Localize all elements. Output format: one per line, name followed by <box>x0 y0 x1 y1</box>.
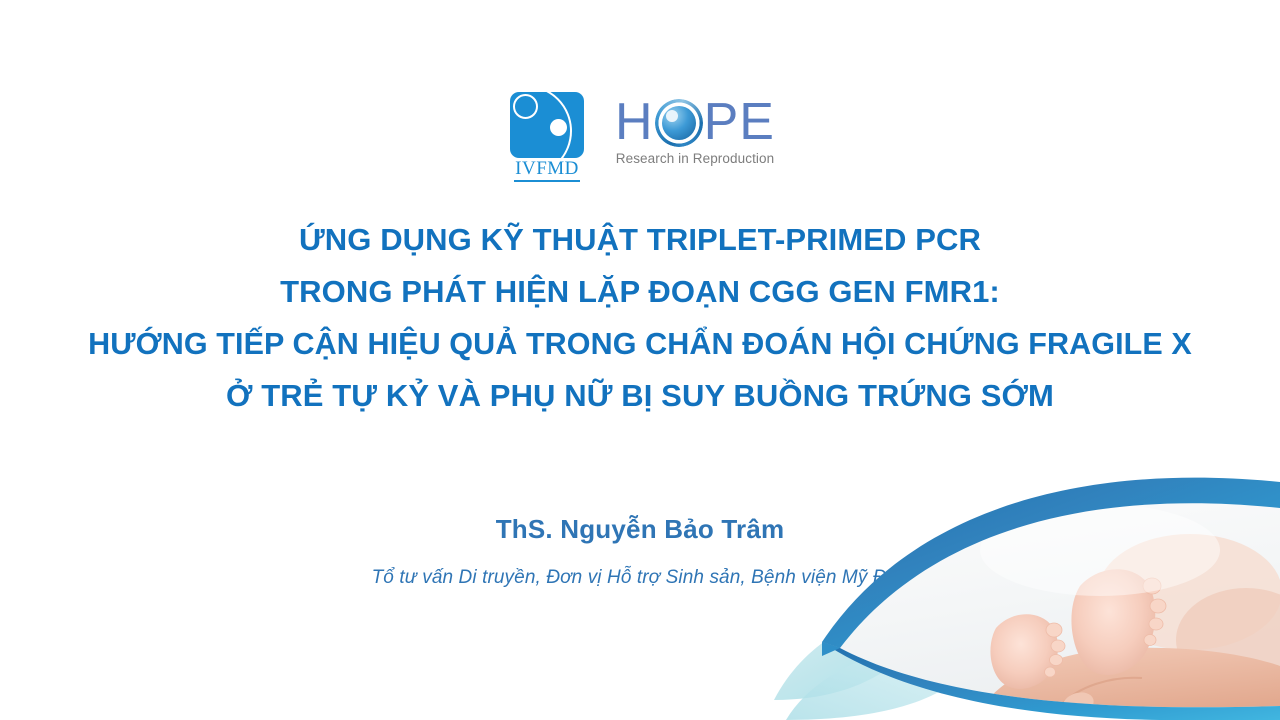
hope-logo-wordmark: H PE <box>615 98 775 147</box>
ivfmd-logo: IVFMD <box>505 92 589 182</box>
title-line-1: ỨNG DỤNG KỸ THUẬT TRIPLET-PRIMED PCR <box>0 214 1280 266</box>
ivfmd-logo-text: IVFMD <box>514 159 580 182</box>
hope-letters-pe: PE <box>704 98 775 147</box>
title-line-4: Ở TRẺ TỰ KỶ VÀ PHỤ NỮ BỊ SUY BUỒNG TRỨNG… <box>0 370 1280 422</box>
hope-logo: H PE Research in Reproduction <box>615 92 775 166</box>
title-line-2: TRONG PHÁT HIỆN LẶP ĐOẠN CGG GEN FMR1: <box>0 266 1280 318</box>
hope-tagline: Research in Reproduction <box>616 151 775 166</box>
presenter-name: ThS. Nguyễn Bảo Trâm <box>0 514 1280 545</box>
hope-oocyte-icon <box>655 99 703 147</box>
hope-letter-h: H <box>615 98 654 147</box>
title-line-3: HƯỚNG TIẾP CẬN HIỆU QUẢ TRONG CHẨN ĐOÁN … <box>0 318 1280 370</box>
presenter-affiliation: Tổ tư vấn Di truyền, Đơn vị Hỗ trợ Sinh … <box>0 567 1280 589</box>
logo-row: IVFMD H PE Research in Reproduction <box>0 92 1280 182</box>
ivfmd-embryo-icon <box>510 92 584 158</box>
decorative-artwork <box>760 460 1280 720</box>
presentation-title: ỨNG DỤNG KỸ THUẬT TRIPLET-PRIMED PCR TRO… <box>0 214 1280 422</box>
teal-petal-shapes-icon <box>774 611 982 720</box>
title-slide: IVFMD H PE Research in Reproduction ỨNG … <box>0 0 1280 720</box>
